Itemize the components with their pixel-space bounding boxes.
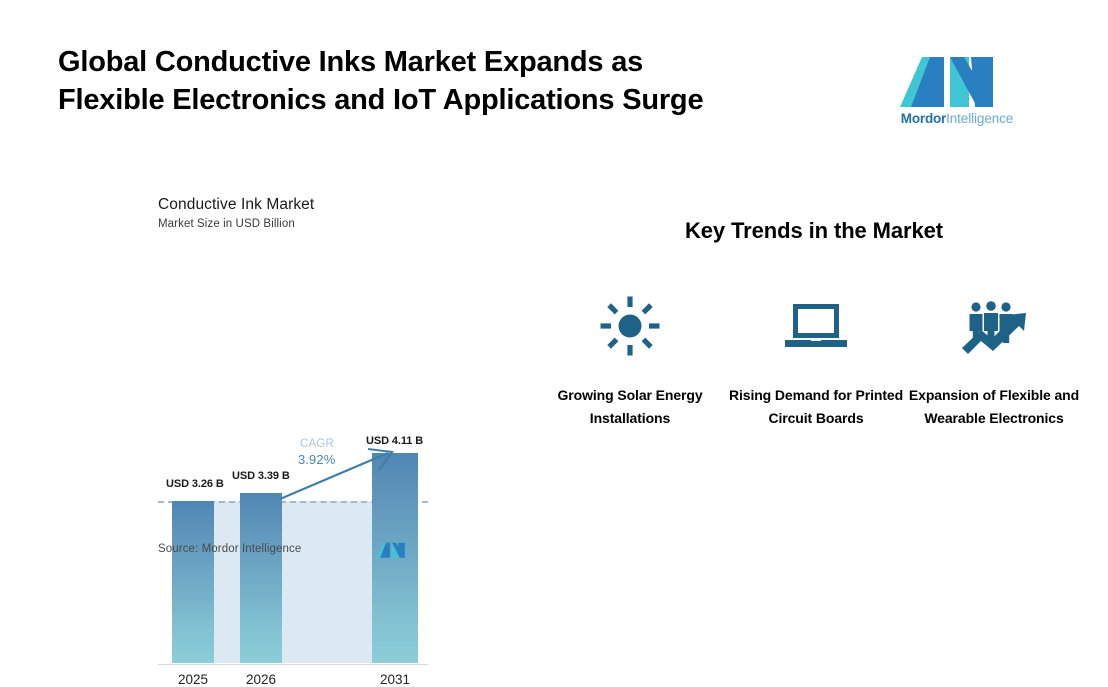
bar-2026[interactable] <box>240 493 282 663</box>
bar-2026-fill <box>240 493 282 663</box>
bar-value-label-2025: USD 3.26 B <box>166 478 224 490</box>
brand-logo: MordorIntelligence <box>897 49 1019 137</box>
page-title-line-2: Flexible Electronics and IoT Application… <box>58 82 848 120</box>
trend-item-solar[interactable]: Growing Solar Energy Installations <box>542 290 718 429</box>
trend-label-solar: Growing Solar Energy Installations <box>542 384 718 429</box>
page-header: Global Conductive Inks Market Expands as… <box>0 0 1108 160</box>
trend-label-pcb: Rising Demand for Printed Circuit Boards <box>728 384 904 429</box>
brand-wordmark: MordorIntelligence <box>893 111 1021 126</box>
cagr-arrow-icon <box>276 443 408 503</box>
x-axis-label-2025: 2025 <box>163 672 223 687</box>
brand-wordmark-bold: Mordor <box>901 111 946 126</box>
key-trends-title: Key Trends in the Market <box>520 218 1108 244</box>
brand-wordmark-light: Intelligence <box>946 111 1013 126</box>
trend-label-flexible: Expansion of Flexible and Wearable Elect… <box>906 384 1082 429</box>
trend-item-pcb[interactable]: Rising Demand for Printed Circuit Boards <box>728 290 904 429</box>
chart-subtitle: Market Size in USD Billion <box>158 218 295 230</box>
trend-item-flexible[interactable]: Expansion of Flexible and Wearable Elect… <box>906 290 1082 429</box>
x-axis-label-2026: 2026 <box>231 672 291 687</box>
key-trends-panel: Key Trends in the Market Growing Solar E… <box>520 160 1108 580</box>
x-axis-line <box>158 664 428 665</box>
mordor-intelligence-logo-icon <box>897 49 997 107</box>
chart-panel: Conductive Ink Market Market Size in USD… <box>0 160 520 580</box>
page-title: Global Conductive Inks Market Expands as… <box>58 44 848 119</box>
chart-title: Conductive Ink Market <box>158 196 314 214</box>
laptop-icon <box>728 290 904 362</box>
chart-source-row: Source: Mordor Intelligence <box>158 540 428 564</box>
bar-2025-fill <box>172 501 214 663</box>
chart-source-text: Source: Mordor Intelligence <box>158 543 301 555</box>
mordor-intelligence-mark-icon <box>376 540 406 558</box>
page-title-line-1: Global Conductive Inks Market Expands as <box>58 44 848 82</box>
bar-2025[interactable] <box>172 501 214 663</box>
x-axis-label-2031: 2031 <box>365 672 425 687</box>
people-growth-icon <box>906 290 1082 362</box>
sun-icon <box>542 290 718 362</box>
